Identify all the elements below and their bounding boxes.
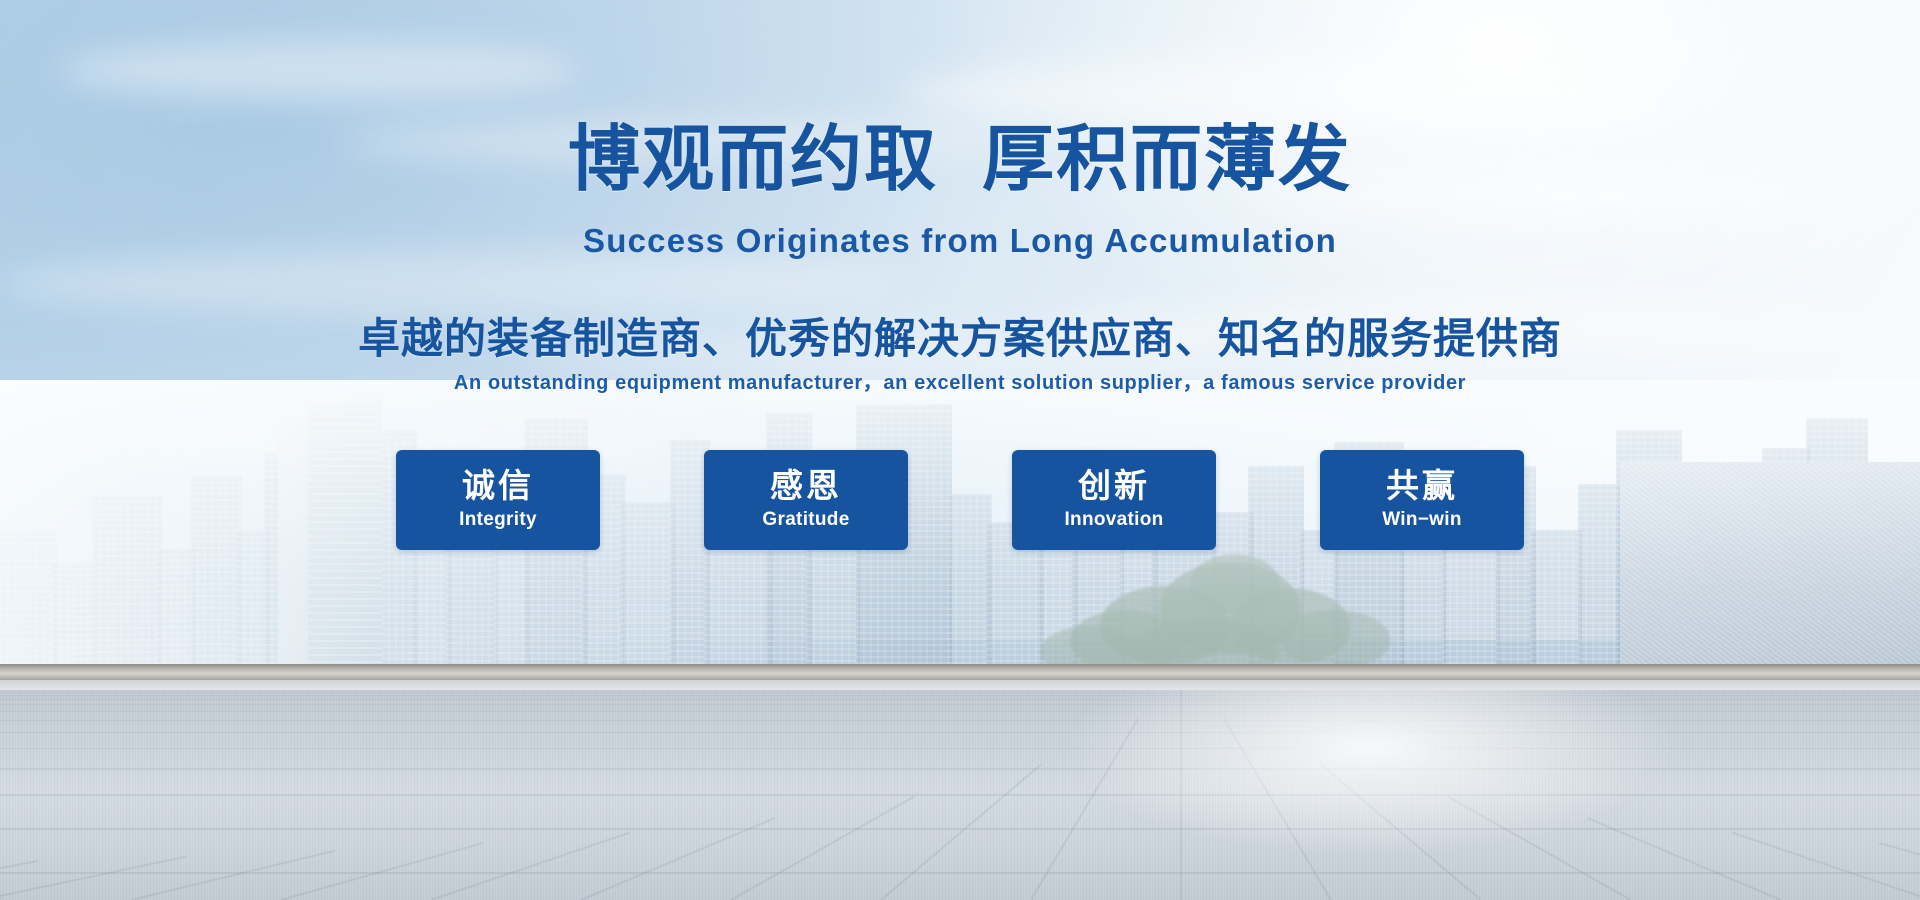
value-card-label-en: Innovation <box>1064 509 1163 531</box>
value-card-innovation[interactable]: 创新Innovation <box>1012 450 1216 550</box>
value-card-label-en: Win−win <box>1382 509 1462 531</box>
banner-content: 博观而约取 厚积而薄发 Success Originates from Long… <box>0 0 1920 900</box>
value-card-label-en: Integrity <box>459 509 537 531</box>
headline-chinese: 博观而约取 厚积而薄发 <box>0 124 1920 196</box>
value-card-gratitude[interactable]: 感恩Gratitude <box>704 450 908 550</box>
subheading-chinese: 卓越的装备制造商、优秀的解决方案供应商、知名的服务提供商 <box>0 305 1920 366</box>
value-card-integrity[interactable]: 诚信Integrity <box>396 450 600 550</box>
value-card-win−win[interactable]: 共赢Win−win <box>1320 450 1524 550</box>
value-card-label-cn: 感恩 <box>770 469 842 504</box>
subheading-english: An outstanding equipment manufacturer，an… <box>0 366 1920 395</box>
value-card-label-cn: 创新 <box>1078 469 1150 504</box>
headline-english: Success Originates from Long Accumulatio… <box>0 222 1920 260</box>
value-card-label-en: Gratitude <box>762 509 849 531</box>
value-card-label-cn: 诚信 <box>462 469 534 504</box>
value-card-label-cn: 共赢 <box>1386 469 1458 504</box>
hero-banner: 博观而约取 厚积而薄发 Success Originates from Long… <box>0 0 1920 900</box>
value-card-list: 诚信Integrity感恩Gratitude创新Innovation共赢Win−… <box>0 450 1920 550</box>
